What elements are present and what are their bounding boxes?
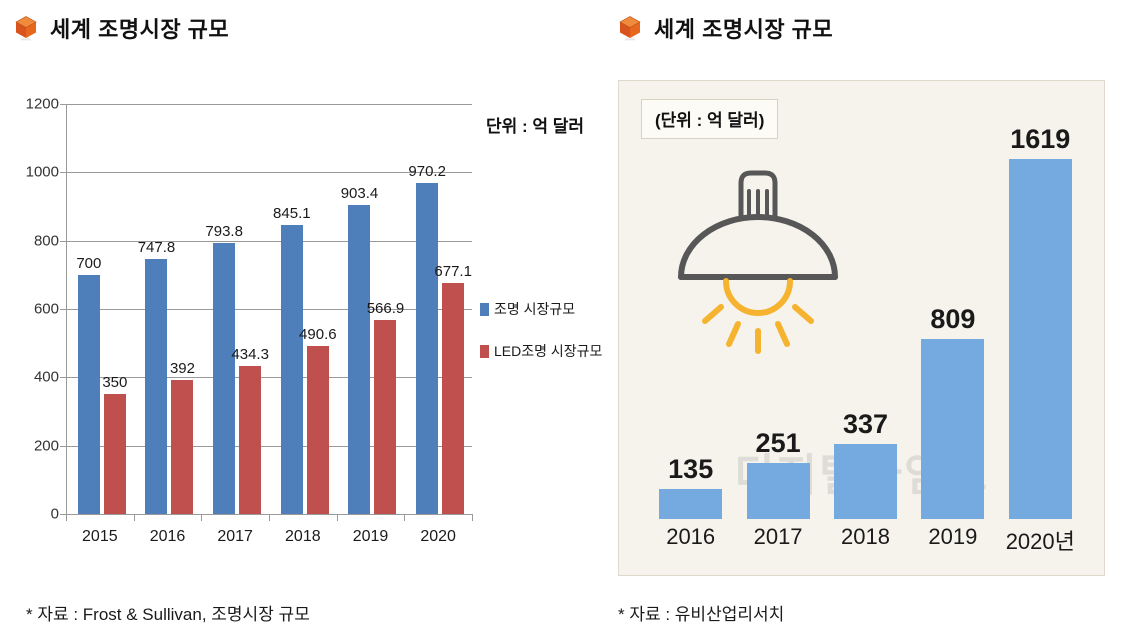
x-category-label: 2017 (754, 524, 803, 550)
bar-led[interactable]: 566.9 (374, 320, 396, 514)
bar-lighting[interactable]: 845.1 (281, 225, 303, 514)
x-category-label: 2015 (82, 528, 118, 546)
left-source-note: * 자료 : Frost & Sullivan, 조명시장 규모 (26, 600, 310, 625)
bar-group: 3372018 (822, 119, 909, 519)
bar-led-market[interactable]: 337 (834, 444, 897, 519)
bar-led-market[interactable]: 135 (659, 489, 722, 519)
bar-value-label: 677.1 (434, 263, 472, 280)
right-panel-title: 세계 조명시장 규모 (654, 12, 833, 44)
screenshot-root: 세계 조명시장 규모 단위 : 억 달러 0200400600800100012… (0, 0, 1123, 639)
y-tick-label: 200 (34, 437, 59, 454)
bar-group: 16192020년 (997, 119, 1084, 519)
bar-group: 1352016 (647, 119, 734, 519)
bar-lighting[interactable]: 903.4 (348, 205, 370, 514)
x-category-label: 2018 (841, 524, 890, 550)
bar-value-label: 566.9 (367, 300, 405, 317)
bar-lighting[interactable]: 700 (78, 275, 100, 514)
x-tick-mark (472, 514, 473, 521)
bar-value-label: 845.1 (273, 205, 311, 222)
bar-value-label: 251 (756, 428, 801, 459)
bar-led[interactable]: 350 (104, 394, 126, 514)
bar-group: 2512017 (734, 119, 821, 519)
x-category-label: 2018 (285, 528, 321, 546)
bar-lighting[interactable]: 793.8 (213, 243, 235, 514)
bar-value-label: 392 (170, 360, 195, 377)
legend-item[interactable]: 조명 시장규모 (480, 299, 602, 319)
bar-lighting[interactable]: 747.8 (145, 259, 167, 514)
x-category-label: 2016 (666, 524, 715, 550)
left-unit-label: 단위 : 억 달러 (486, 112, 584, 137)
x-tick-mark (404, 514, 405, 521)
left-panel-title: 세계 조명시장 규모 (50, 12, 229, 44)
bar-value-label: 490.6 (299, 326, 337, 343)
bar-group: 747.83922016 (134, 104, 202, 514)
x-category-label: 2016 (150, 528, 186, 546)
bar-led[interactable]: 677.1 (442, 283, 464, 514)
y-tick-label: 800 (34, 232, 59, 249)
bar-value-label: 700 (76, 255, 101, 272)
y-tick-label: 400 (34, 369, 59, 386)
x-category-label: 2019 (928, 524, 977, 550)
bar-group: 7003502015 (66, 104, 134, 514)
orange-cube-icon (618, 15, 642, 41)
legend-swatch-icon (480, 345, 489, 358)
y-tick-label: 1200 (26, 96, 59, 113)
legend-label: LED조명 시장규모 (494, 341, 602, 361)
bar-group: 793.8434.32017 (201, 104, 269, 514)
x-category-label: 2017 (217, 528, 253, 546)
bar-group: 970.2677.12020 (404, 104, 472, 514)
y-tick-label: 1000 (26, 164, 59, 181)
x-category-label: 2020 (420, 528, 456, 546)
bar-led-market[interactable]: 809 (921, 339, 984, 519)
bar-value-label: 1619 (1010, 124, 1070, 155)
legend-item[interactable]: LED조명 시장규모 (480, 341, 602, 361)
bar-led-market[interactable]: 1619 (1009, 159, 1072, 519)
x-tick-mark (269, 514, 270, 521)
bar-group: 845.1490.62018 (269, 104, 337, 514)
left-bar-chart: 단위 : 억 달러 020040060080010001200700350201… (18, 96, 593, 566)
y-tick-label: 600 (34, 301, 59, 318)
x-tick-mark (134, 514, 135, 521)
right-plot-area: 135201625120173372018809201916192020년 (647, 119, 1084, 519)
bar-led-market[interactable]: 251 (747, 463, 810, 519)
bar-value-label: 903.4 (341, 185, 379, 202)
x-category-label: 2019 (353, 528, 389, 546)
right-panel: 세계 조명시장 규모 (단위 : 억 달러) (600, 0, 1123, 639)
left-panel: 세계 조명시장 규모 단위 : 억 달러 0200400600800100012… (0, 0, 600, 639)
x-tick-mark (337, 514, 338, 521)
bar-value-label: 793.8 (205, 223, 243, 240)
bar-value-label: 809 (930, 304, 975, 335)
x-tick-mark (66, 514, 67, 521)
bar-led[interactable]: 490.6 (307, 346, 329, 514)
x-category-label: 2020년 (1006, 524, 1075, 556)
right-panel-header: 세계 조명시장 규모 (618, 12, 833, 44)
bar-led[interactable]: 434.3 (239, 366, 261, 514)
bar-group: 8092019 (909, 119, 996, 519)
bar-value-label: 747.8 (138, 239, 176, 256)
y-tick-label: 0 (51, 506, 59, 523)
bar-value-label: 350 (102, 374, 127, 391)
orange-cube-icon (14, 15, 38, 41)
right-source-note: * 자료 : 유비산업리서치 (618, 600, 784, 625)
legend-label: 조명 시장규모 (494, 299, 575, 319)
bar-value-label: 337 (843, 409, 888, 440)
x-tick-mark (201, 514, 202, 521)
bar-value-label: 970.2 (408, 163, 446, 180)
legend-swatch-icon (480, 303, 489, 316)
bar-led[interactable]: 392 (171, 380, 193, 514)
bar-lighting[interactable]: 970.2 (416, 183, 438, 514)
left-panel-header: 세계 조명시장 규모 (14, 12, 229, 44)
bar-group: 903.4566.92019 (337, 104, 405, 514)
right-bar-chart: (단위 : 억 달러) (618, 80, 1105, 576)
bar-value-label: 135 (668, 454, 713, 485)
left-plot-area: 0200400600800100012007003502015747.83922… (66, 104, 472, 514)
bar-value-label: 434.3 (231, 346, 269, 363)
left-legend: 조명 시장규모LED조명 시장규모 (480, 299, 602, 361)
